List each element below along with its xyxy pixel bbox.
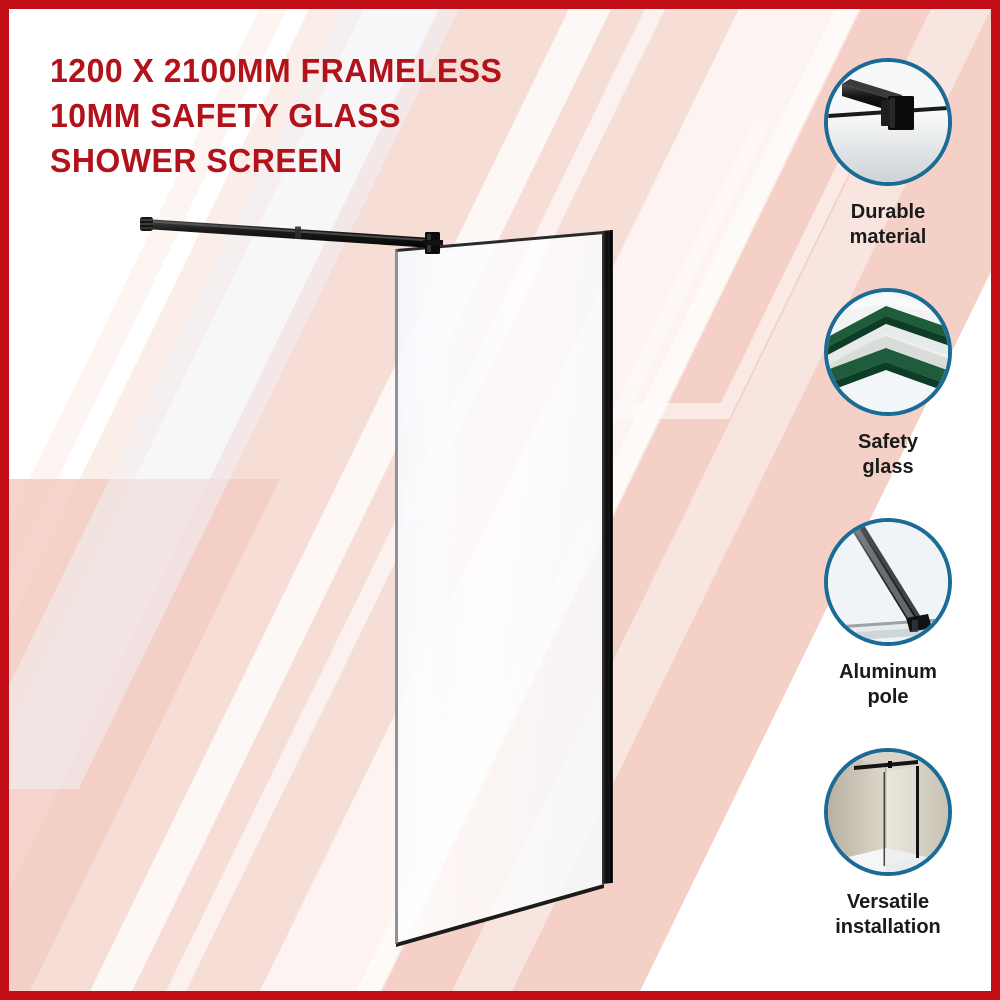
feature-label: Aluminum pole: [839, 660, 937, 710]
feature-label: Durable material: [850, 200, 927, 250]
title-line-2: 10mm Safety Glass: [50, 93, 651, 138]
poster-title: 1200 x 2100mm Frameless 10mm Safety Glas…: [50, 48, 651, 183]
bathroom-install-icon: [824, 748, 952, 876]
product-poster: 1200 x 2100mm Frameless 10mm Safety Glas…: [0, 0, 1000, 1000]
feature-versatile-installation[interactable]: Versatile installation: [788, 748, 988, 978]
support-pole-glyph: [828, 522, 948, 642]
feature-aluminum-pole[interactable]: Aluminum pole: [788, 518, 988, 748]
title-line-3: Shower Screen: [50, 138, 651, 183]
feature-list: Durable material: [788, 58, 988, 978]
feature-label: Safety glass: [858, 430, 918, 480]
bracket-clamp-glyph: [828, 62, 948, 182]
feature-durable-material[interactable]: Durable material: [788, 58, 988, 288]
support-pole-icon: [824, 518, 952, 646]
bracket-clamp-icon: [824, 58, 952, 186]
title-line-1: 1200 x 2100mm Frameless: [50, 48, 651, 93]
layered-glass-glyph: [828, 292, 948, 412]
layered-glass-icon: [824, 288, 952, 416]
feature-safety-glass[interactable]: Safety glass: [788, 288, 988, 518]
bathroom-install-glyph: [828, 752, 948, 872]
feature-label: Versatile installation: [835, 890, 941, 940]
